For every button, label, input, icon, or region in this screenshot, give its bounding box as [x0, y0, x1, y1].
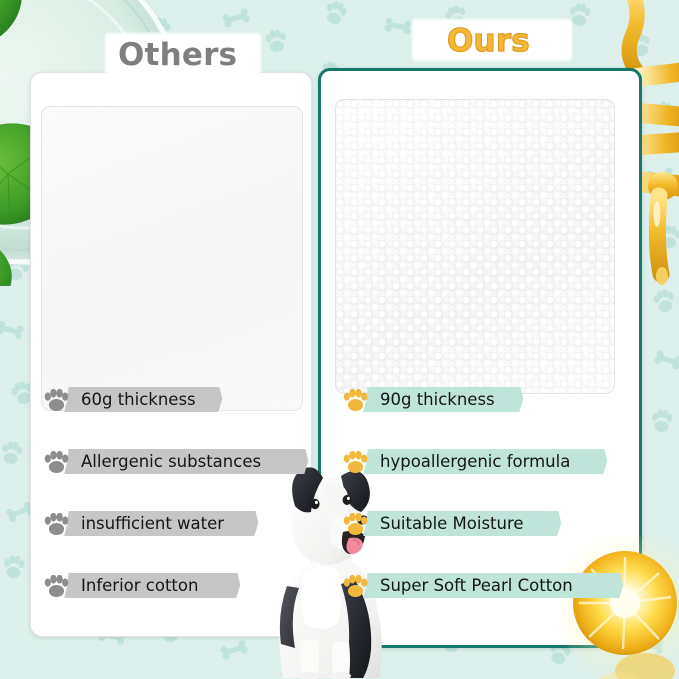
others-feature-list: 60g thickness Allergenic substances: [44, 385, 312, 601]
list-item: Allergenic substances: [44, 447, 312, 477]
paw-icon: [343, 451, 368, 474]
ours-feature-list: 90g thickness hypoallergenic formula: [343, 385, 643, 601]
paw-icon: [343, 513, 368, 536]
paw-icon: [343, 575, 368, 598]
pearl-cotton-pad-image: [335, 99, 615, 394]
list-item-label: insufficient water: [76, 513, 231, 535]
paw-icon: [44, 575, 69, 598]
list-item: 90g thickness: [343, 385, 643, 415]
list-item-label: 90g thickness: [375, 389, 502, 411]
list-item-label: Suitable Moisture: [375, 513, 531, 535]
paw-icon: [44, 389, 69, 412]
list-item: Inferior cotton: [44, 571, 312, 601]
paw-icon: [44, 451, 69, 474]
list-item: insufficient water: [44, 509, 312, 539]
list-item-label: Inferior cotton: [76, 575, 205, 597]
paw-icon: [343, 389, 368, 412]
list-item-label: Allergenic substances: [76, 451, 268, 473]
comparison-infographic: Others Ours 60g thickness: [0, 0, 679, 679]
list-item-label: hypoallergenic formula: [375, 451, 577, 473]
ours-title: Ours: [447, 26, 530, 57]
plain-cotton-pad-image: [41, 106, 303, 411]
paw-icon: [44, 513, 69, 536]
list-item: Super Soft Pearl Cotton: [343, 571, 643, 601]
list-item: hypoallergenic formula: [343, 447, 643, 477]
list-item-label: 60g thickness: [76, 389, 203, 411]
others-title: Others: [118, 40, 237, 71]
list-item: 60g thickness: [44, 385, 312, 415]
list-item-label: Super Soft Pearl Cotton: [375, 575, 580, 597]
list-item: Suitable Moisture: [343, 509, 643, 539]
